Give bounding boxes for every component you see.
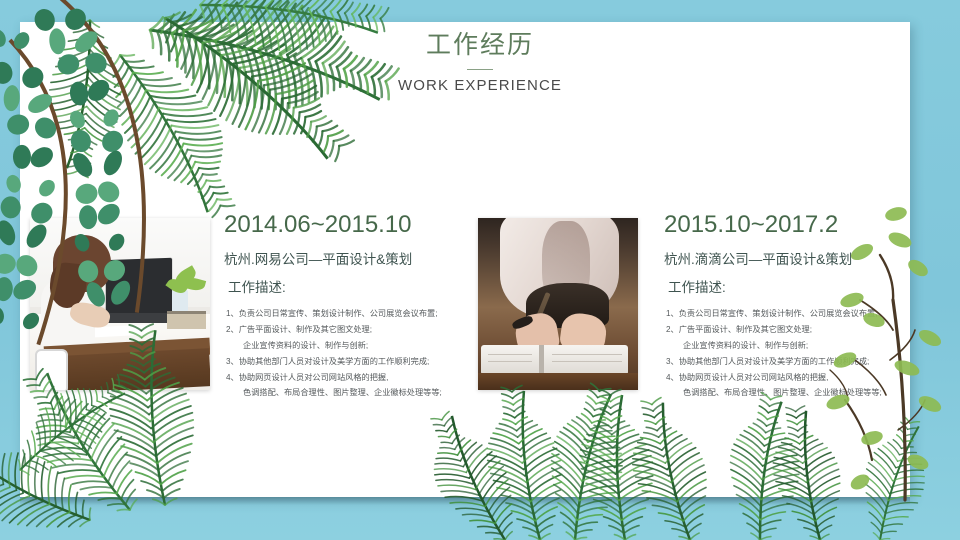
photo-desk-work [30,218,210,390]
list-item: 2、广告平面设计、制作及其它图文处理; [666,322,914,338]
experience-column-right: 2015.10~2017.2 杭州.滴滴公司—平面设计&策划 工作描述: 1、负… [664,212,914,401]
card-shadow [20,497,910,505]
experience-desc-label: 工作描述: [668,279,914,297]
experience-bullet-list: 1、负责公司日常宣传、策划设计制作、公司展览会议布置; 2、广告平面设计、制作及… [226,306,474,401]
experience-column-left: 2014.06~2015.10 杭州.网易公司—平面设计&策划 工作描述: 1、… [224,212,474,401]
list-item: 4、协助网页设计人员对公司网站风格的把握, [666,370,914,386]
list-item: 色调搭配、布局合理性、图片整理、企业徽标处理等等; [666,385,914,401]
experience-period: 2015.10~2017.2 [664,212,914,238]
experience-desc-label: 工作描述: [228,279,474,297]
experience-company: 杭州.滴滴公司—平面设计&策划 [664,251,914,269]
list-item: 色调搭配、布局合理性、图片整理、企业徽标处理等等; [226,385,474,401]
experience-bullet-list: 1、负责公司日常宣传、策划设计制作、公司展览会议布置; 2、广告平面设计、制作及… [666,306,914,401]
slide-canvas: 工作经历 WORK EXPERIENCE 2014.06~2015.10 杭州.… [0,0,960,540]
list-item: 1、负责公司日常宣传、策划设计制作、公司展览会议布置; [666,306,914,322]
list-item: 3、协助其他部门人员对设计及美学方面的工作顺利完成; [226,354,474,370]
experience-period: 2014.06~2015.10 [224,212,474,238]
list-item: 4、协助网页设计人员对公司网站风格的把握, [226,370,474,386]
experience-company: 杭州.网易公司—平面设计&策划 [224,251,474,269]
list-item: 企业宣传资料的设计、制作与创新; [226,338,474,354]
list-item: 2、广告平面设计、制作及其它图文处理; [226,322,474,338]
list-item: 3、协助其他部门人员对设计及美学方面的工作顺利完成; [666,354,914,370]
list-item: 1、负责公司日常宣传、策划设计制作、公司展览会议布置; [226,306,474,322]
photo-notebook-writing [478,218,638,390]
list-item: 企业宣传资料的设计、制作与创新; [666,338,914,354]
